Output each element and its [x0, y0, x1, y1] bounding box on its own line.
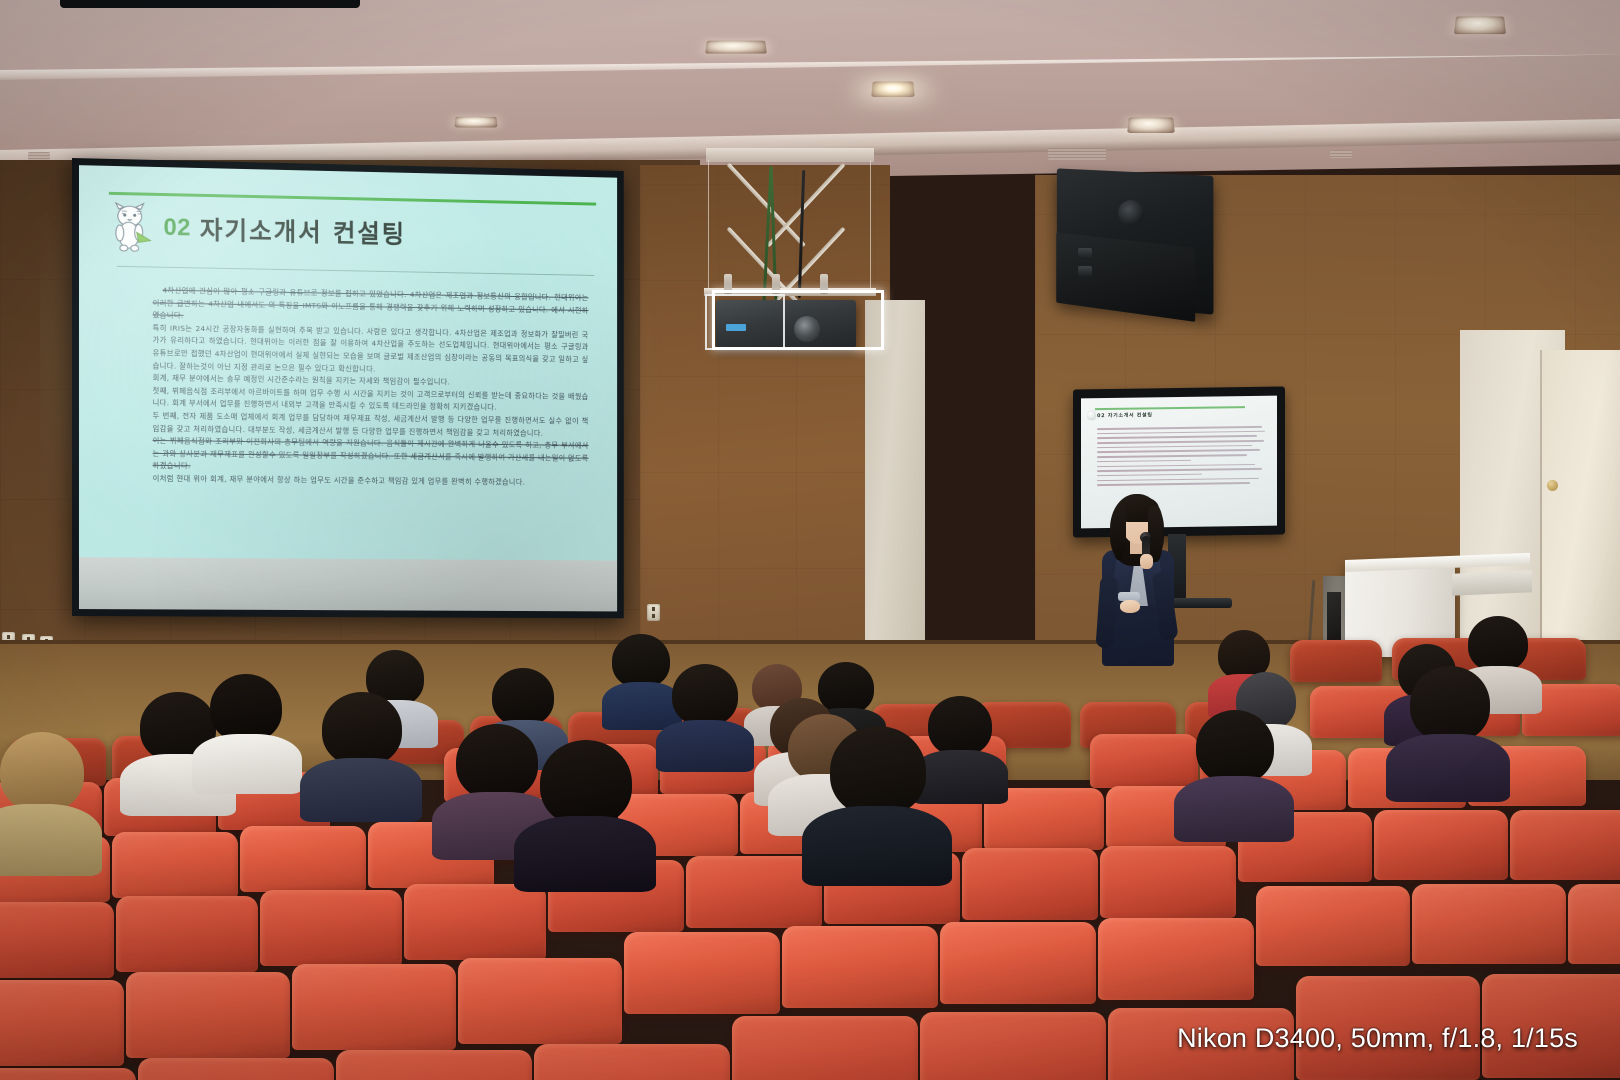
- seat: [1510, 810, 1620, 880]
- projection-screen: 02 자기소개서 컨설팅 4차산업에 관심이 많아 평소 구글링과 유튜브로 정…: [72, 158, 624, 618]
- seat: [0, 1068, 136, 1080]
- seat: [336, 1050, 532, 1080]
- lecture-hall-photo: 02 자기소개서 컨설팅 4차산업에 관심이 많아 평소 구글링과 유튜브로 정…: [0, 0, 1620, 1080]
- white-highlight-box: [712, 290, 884, 350]
- lift-hanger-wire: [870, 160, 871, 290]
- seat: [116, 896, 258, 972]
- presenter-hair-side: [1112, 506, 1126, 560]
- seat: [534, 1044, 730, 1080]
- screen-lower-band: [79, 557, 617, 611]
- lift-hanger-wire: [708, 160, 709, 290]
- speaker-driver-icon: [1118, 200, 1144, 226]
- ceiling-vent-icon: [1048, 148, 1106, 160]
- seat: [1090, 734, 1198, 788]
- tiger-mascot-icon: [1087, 410, 1096, 420]
- scissor-lift-arms: [724, 160, 852, 292]
- speaker-port-icon: [1078, 266, 1092, 277]
- seat: [404, 884, 546, 960]
- speaker-port-icon: [1078, 248, 1092, 259]
- seat: [782, 926, 938, 1008]
- seat: [138, 1058, 334, 1080]
- wall-alcove: [865, 300, 925, 660]
- ceiling-downlight-icon: [871, 82, 914, 97]
- ceiling-downlight-icon: [455, 117, 498, 128]
- ceiling-downlight-icon: [1127, 118, 1175, 133]
- monitor-slide-title: 02 자기소개서 컨설팅: [1097, 411, 1153, 419]
- seat: [940, 922, 1096, 1004]
- slide-title: 자기소개서 컨설팅: [200, 211, 406, 251]
- door-knob-icon[interactable]: [1547, 480, 1558, 491]
- exit-door[interactable]: [1540, 350, 1620, 660]
- seat: [458, 958, 622, 1044]
- seat: [624, 932, 780, 1014]
- tiger-mascot-icon: [109, 202, 155, 253]
- ceiling-vent-icon: [28, 152, 50, 160]
- ceiling-projector-lift: [700, 148, 880, 353]
- wall-outlet-icon: [647, 604, 660, 621]
- slide-section-number: 02: [163, 214, 190, 242]
- slide-divider: [117, 266, 594, 276]
- ceiling-downlight-icon: [1454, 17, 1506, 35]
- seat: [112, 832, 238, 898]
- seat: [1100, 846, 1236, 918]
- seat: [1256, 886, 1410, 966]
- seat: [1290, 640, 1382, 682]
- projection-screen-surface: 02 자기소개서 컨설팅 4차산업에 관심이 많아 평소 구글링과 유튜브로 정…: [79, 165, 617, 611]
- lectern-shelf: [1452, 570, 1532, 595]
- slide-content: 02 자기소개서 컨설팅 4차산업에 관심이 많아 평소 구글링과 유튜브로 정…: [95, 180, 602, 555]
- seat: [260, 890, 402, 966]
- presenter-hand: [1120, 600, 1140, 613]
- slide-body-text: 4차산업에 관심이 많아 평소 구글링과 유튜브로 정보를 접하고 있었습니다.…: [153, 284, 589, 489]
- seat: [292, 964, 456, 1050]
- presenter-hand: [1140, 554, 1153, 569]
- slide-paragraph: 이는 뷔페음식점와 조리부와 이전회사의 총무팀에서 역량을 지원습니다. 음식…: [153, 435, 589, 477]
- seat: [920, 1012, 1106, 1080]
- camera-info-overlay: Nikon D3400, 50mm, f/1.8, 1/15s: [1177, 1023, 1578, 1054]
- slide-header: 02 자기소개서 컨설팅: [109, 202, 406, 258]
- monitor-accent-bar: [1095, 406, 1245, 410]
- seat: [1412, 884, 1566, 964]
- auditorium-seating: [0, 620, 1620, 1080]
- seat: [1098, 918, 1254, 1000]
- seat: [1568, 884, 1620, 964]
- seat: [962, 848, 1098, 920]
- ceiling-downlight-icon: [705, 41, 767, 54]
- seat: [1374, 810, 1508, 880]
- ceiling-vent-icon: [1330, 150, 1352, 158]
- seat: [0, 980, 124, 1066]
- slide-paragraph: 특히 IRIS는 24시간 공장자동화를 실현하며 주목 받고 있습니다. 사람…: [153, 322, 589, 379]
- screen-mount-housing: [60, 0, 360, 8]
- seat: [126, 972, 290, 1058]
- seat: [732, 1016, 918, 1080]
- seat: [0, 902, 114, 978]
- seat: [240, 826, 366, 892]
